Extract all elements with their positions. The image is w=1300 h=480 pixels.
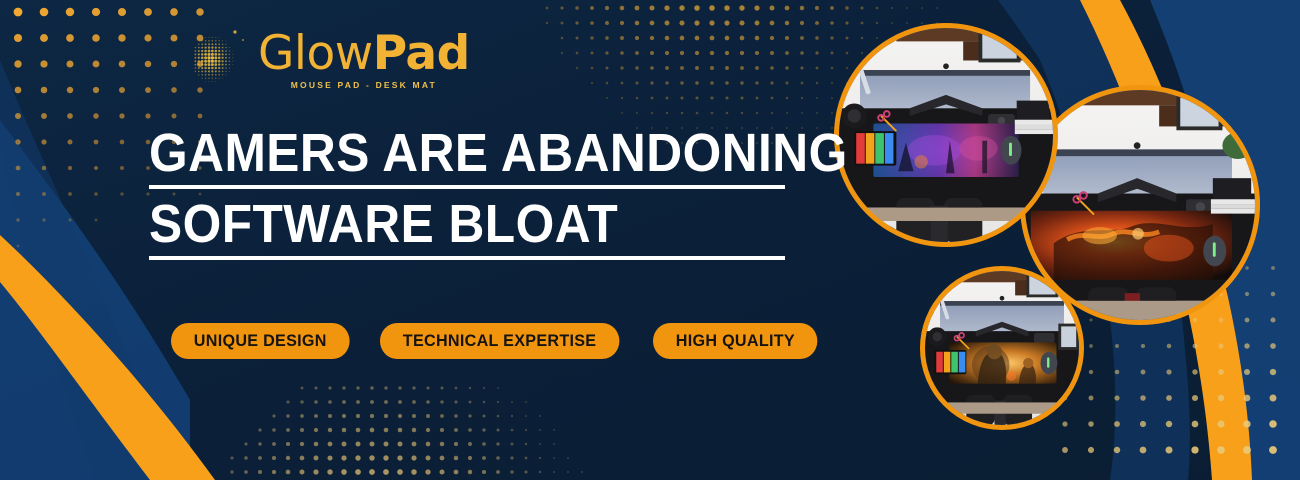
headline-underline-1: [149, 185, 785, 189]
badge-unique-design[interactable]: UNIQUE DESIGN: [171, 323, 350, 359]
logo-word-pad: Pad: [373, 26, 470, 81]
feature-badges: UNIQUE DESIGN TECHNICAL EXPERTISE HIGH Q…: [171, 323, 826, 359]
halftone-sphere-icon: [188, 26, 250, 92]
logo-wordmark: GlowPad: [258, 30, 470, 77]
product-photo-3[interactable]: [920, 266, 1084, 430]
logo-word-glow: Glow: [258, 26, 373, 81]
badge-technical-expertise[interactable]: TECHNICAL EXPERTISE: [380, 323, 619, 359]
product-photo-cluster: [820, 0, 1300, 480]
headline-line-2: SOFTWARE BLOAT: [149, 198, 756, 251]
product-photo-1[interactable]: [834, 23, 1058, 247]
promo-banner: GlowPad MOUSE PAD - DESK MAT GAMERS ARE …: [0, 0, 1300, 480]
headline-underline-2: [149, 256, 785, 260]
headline: GAMERS ARE ABANDONING SOFTWARE BLOAT: [149, 127, 809, 269]
brand-logo[interactable]: GlowPad MOUSE PAD - DESK MAT: [188, 26, 470, 92]
badge-high-quality[interactable]: HIGH QUALITY: [653, 323, 818, 359]
logo-tagline: MOUSE PAD - DESK MAT: [258, 80, 470, 90]
banner-content: GlowPad MOUSE PAD - DESK MAT GAMERS ARE …: [0, 0, 830, 480]
headline-line-1: GAMERS ARE ABANDONING: [149, 127, 756, 180]
